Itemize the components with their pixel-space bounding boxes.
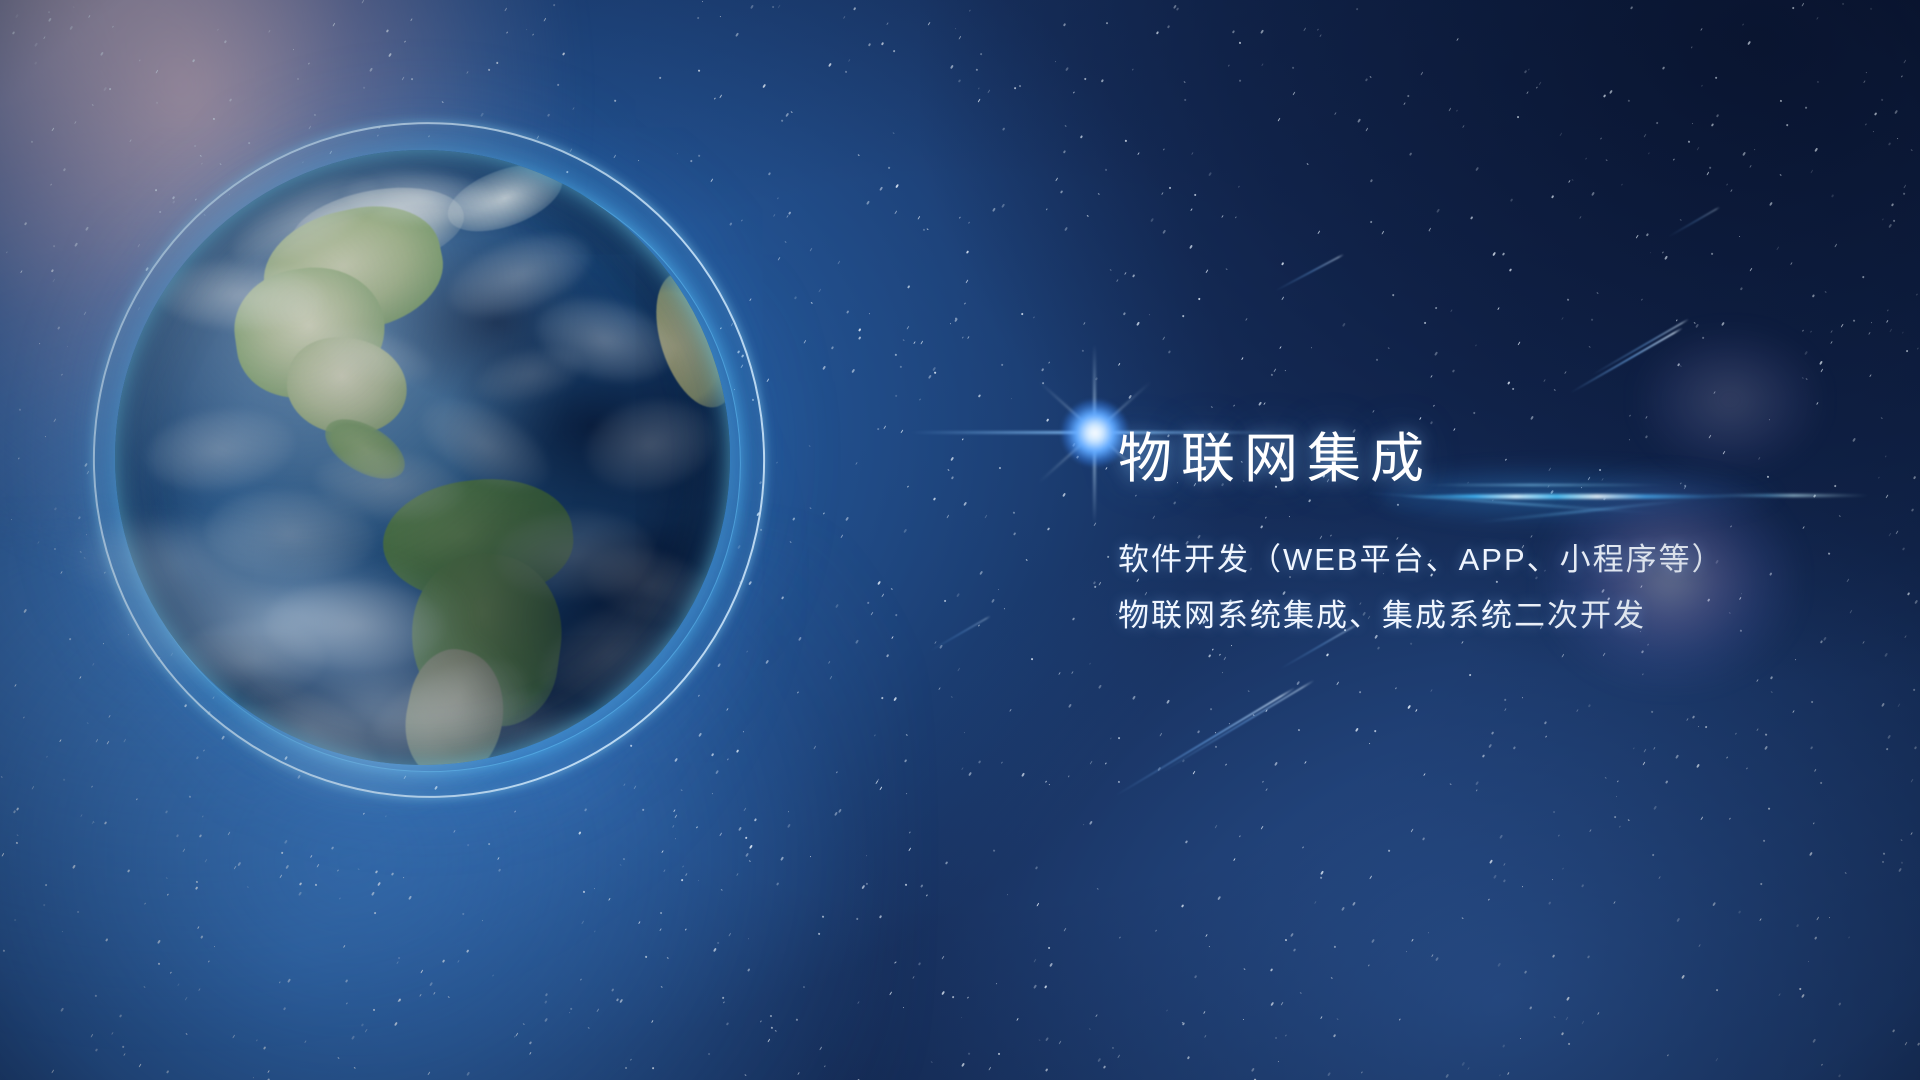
hero-banner: 物联网集成 软件开发（WEB平台、APP、小程序等） 物联网系统集成、集成系统二…: [0, 0, 1920, 1080]
banner-subtitle-1: 软件开发（WEB平台、APP、小程序等）: [1118, 532, 1838, 588]
page-title: 物联网集成: [1118, 428, 1838, 490]
cloud-mist: [30, 520, 590, 850]
banner-subtitle-2: 物联网系统集成、集成系统二次开发: [1118, 588, 1838, 644]
banner-text: 物联网集成 软件开发（WEB平台、APP、小程序等） 物联网系统集成、集成系统二…: [1118, 428, 1838, 644]
